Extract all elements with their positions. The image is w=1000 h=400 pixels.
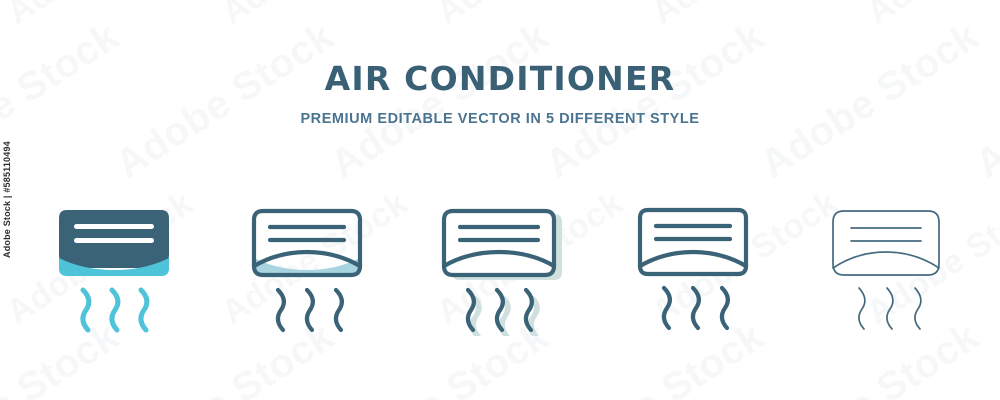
ac-unit-outline-filled xyxy=(254,211,360,275)
ac-slat xyxy=(74,238,154,243)
air-flow-waves xyxy=(278,290,342,330)
air-conditioner-outline-filled-icon[interactable] xyxy=(230,196,385,346)
ac-slat xyxy=(74,224,154,229)
air-conditioner-filled-icon[interactable] xyxy=(37,196,192,346)
air-flow-waves xyxy=(664,288,728,328)
ac-unit-outline-thin xyxy=(833,211,939,275)
air-flow-waves xyxy=(859,288,921,329)
header: AIR CONDITIONER PREMIUM EDITABLE VECTOR … xyxy=(0,0,1000,127)
air-conditioner-duotone-shadow-icon[interactable] xyxy=(423,196,578,346)
stock-image-canvas: Adobe StockAdobe StockAdobe StockAdobe S… xyxy=(0,0,1000,400)
air-conditioner-outline-thin-icon[interactable] xyxy=(809,196,964,346)
page-subtitle: PREMIUM EDITABLE VECTOR IN 5 DIFFERENT S… xyxy=(0,112,1000,127)
ac-unit-outline-bold xyxy=(640,210,746,274)
icon-style-row xyxy=(0,196,1000,346)
adobe-stock-credit-watermark: Adobe Stock | #585110494 xyxy=(2,141,12,258)
ac-unit-outline xyxy=(444,211,554,275)
air-conditioner-outline-bold-icon[interactable] xyxy=(616,196,771,346)
page-title: AIR CONDITIONER xyxy=(0,62,1000,95)
air-flow-waves xyxy=(83,290,147,330)
ac-unit-filled xyxy=(59,210,169,276)
